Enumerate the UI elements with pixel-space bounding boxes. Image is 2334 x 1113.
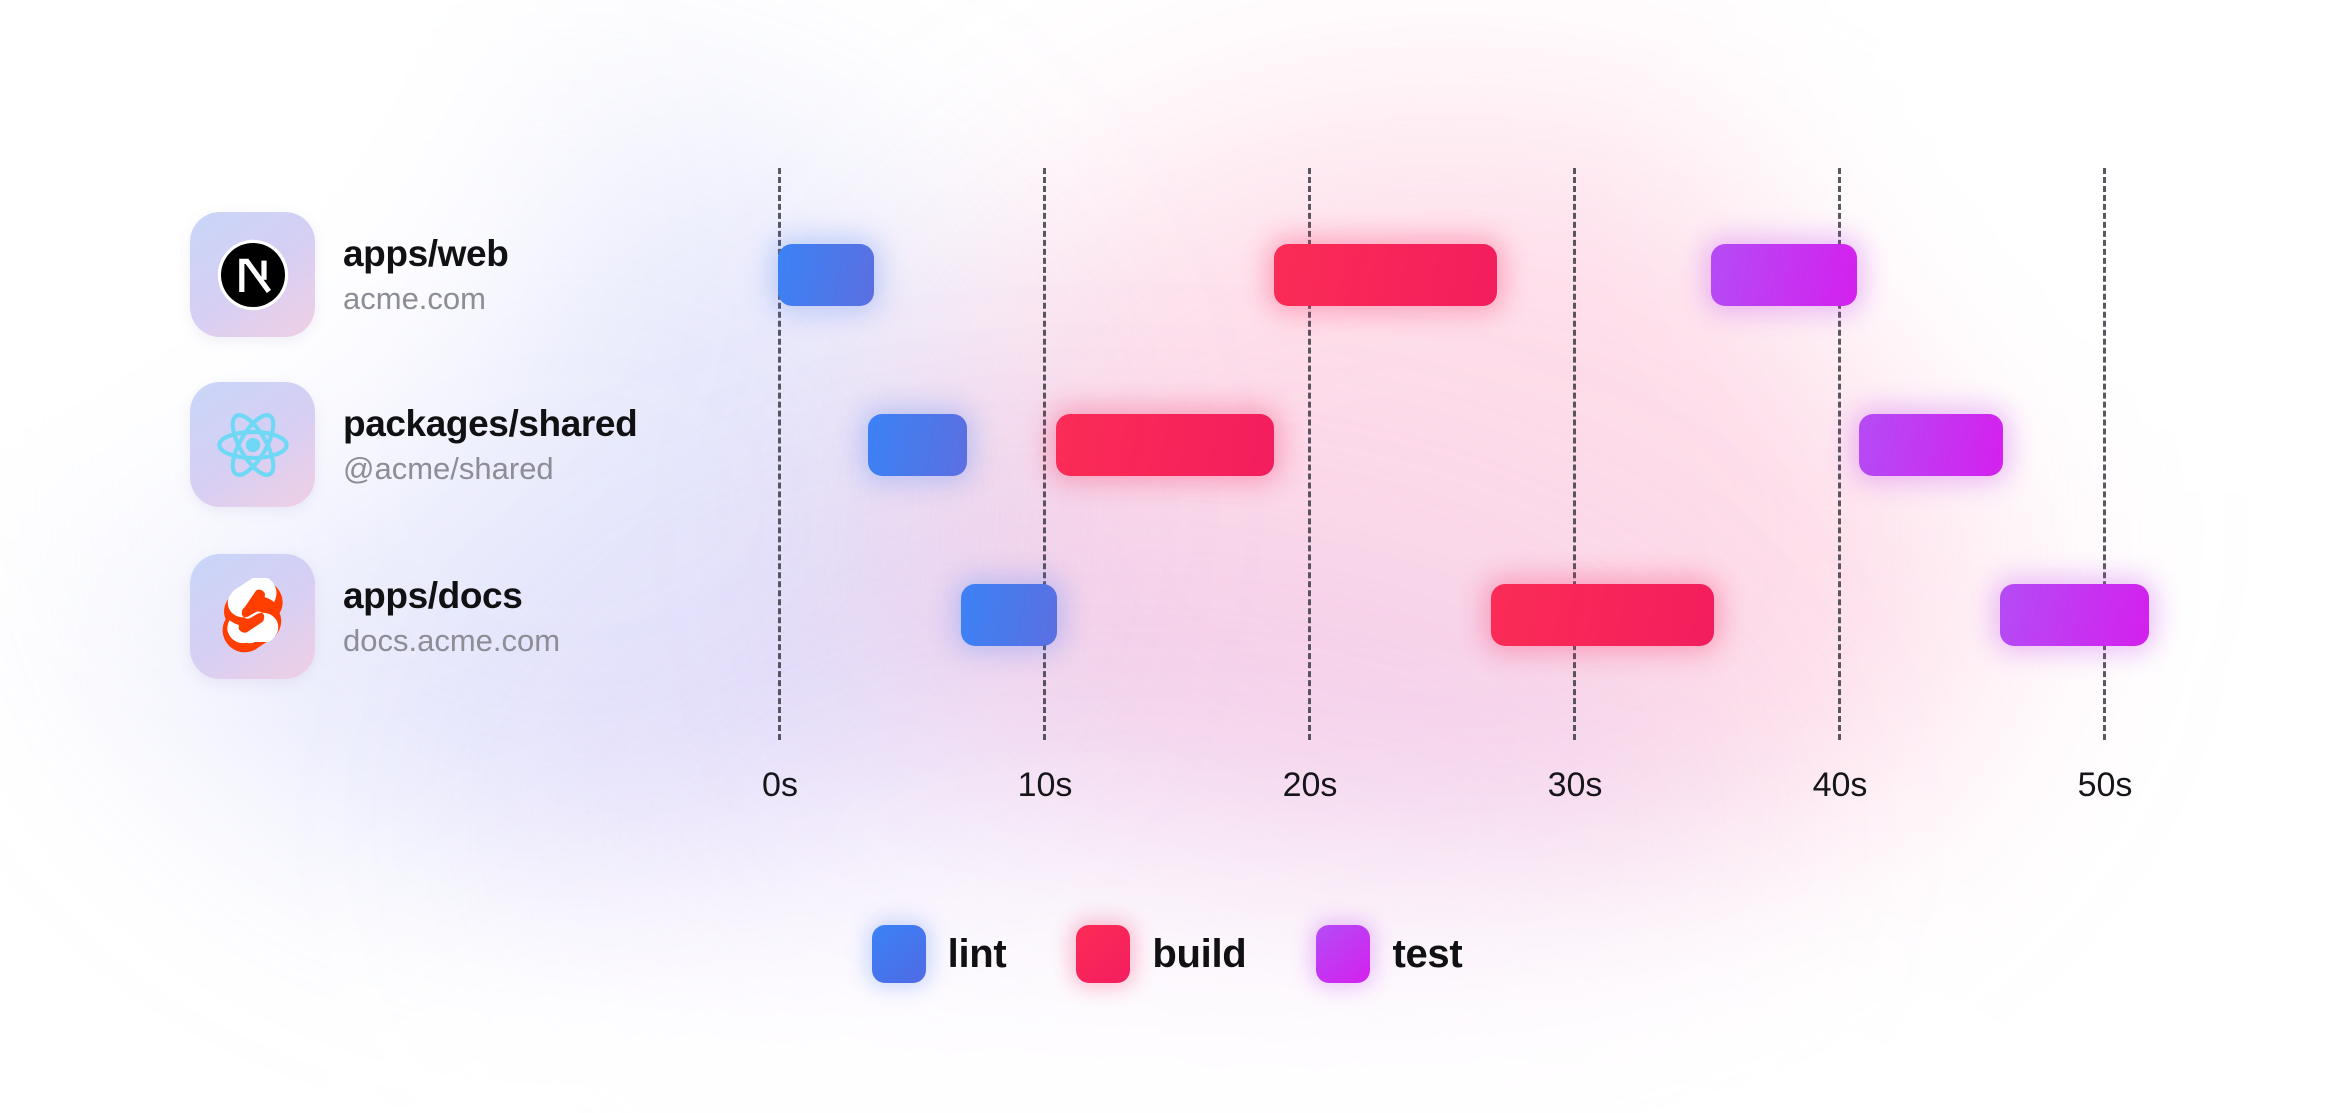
row-title: apps/docs <box>343 574 560 618</box>
nextjs-icon <box>190 212 315 337</box>
svelte-icon <box>190 554 315 679</box>
legend-label-lint: lint <box>948 932 1007 977</box>
row-apps-docs[interactable]: apps/docs docs.acme.com <box>190 554 560 679</box>
legend-swatch-lint <box>872 925 926 983</box>
legend-swatch-build <box>1076 925 1130 983</box>
legend-label-test: test <box>1392 932 1462 977</box>
row-title: packages/shared <box>343 402 637 446</box>
chart-legend: lint build test <box>0 925 2334 983</box>
legend-label-build: build <box>1152 932 1246 977</box>
row-subtitle: acme.com <box>343 280 508 317</box>
react-icon <box>190 382 315 507</box>
legend-item-test[interactable]: test <box>1316 925 1462 983</box>
row-title: apps/web <box>343 232 508 276</box>
row-subtitle: docs.acme.com <box>343 622 560 659</box>
row-apps-web[interactable]: apps/web acme.com <box>190 212 508 337</box>
legend-swatch-test <box>1316 925 1370 983</box>
legend-item-build[interactable]: build <box>1076 925 1246 983</box>
row-subtitle: @acme/shared <box>343 450 637 487</box>
timeline-chart: 0s 10s 20s 30s 40s 50s <box>0 0 2334 1113</box>
legend-item-lint[interactable]: lint <box>872 925 1007 983</box>
row-packages-shared[interactable]: packages/shared @acme/shared <box>190 382 637 507</box>
